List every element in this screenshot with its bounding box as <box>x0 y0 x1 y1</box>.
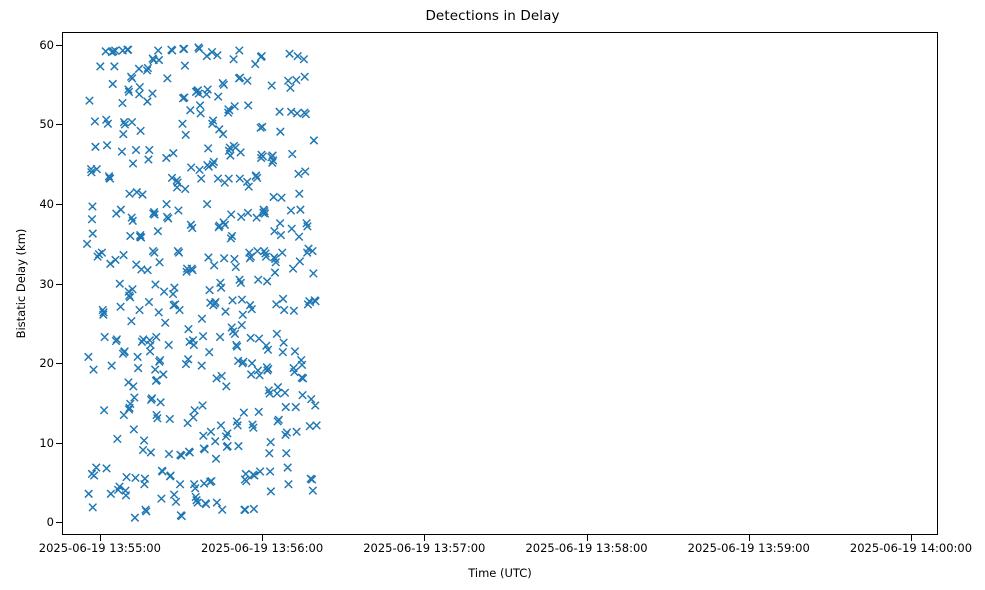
x-tick-mark <box>100 535 101 541</box>
x-tick-label: 2025-06-19 14:00:00 <box>850 541 972 555</box>
y-tick-label: 60 <box>14 38 54 52</box>
x-tick-mark <box>587 535 588 541</box>
x-tick-mark <box>749 535 750 541</box>
x-tick-label: 2025-06-19 13:57:00 <box>363 541 485 555</box>
matplotlib-figure: Detections in Delay Bistatic Delay (km) … <box>0 0 985 590</box>
y-tick-label: 40 <box>14 197 54 211</box>
y-tick-label: 0 <box>14 515 54 529</box>
scatter-series <box>63 33 938 535</box>
y-tick-mark <box>56 124 62 125</box>
y-tick-mark <box>56 45 62 46</box>
x-tick-label: 2025-06-19 13:55:00 <box>39 541 161 555</box>
y-tick-mark <box>56 204 62 205</box>
x-tick-mark <box>262 535 263 541</box>
y-tick-label: 50 <box>14 117 54 131</box>
x-tick-mark <box>424 535 425 541</box>
x-tick-label: 2025-06-19 13:56:00 <box>201 541 323 555</box>
y-tick-mark <box>56 363 62 364</box>
y-tick-mark <box>56 284 62 285</box>
y-tick-label: 30 <box>14 277 54 291</box>
x-tick-mark <box>911 535 912 541</box>
x-tick-label: 2025-06-19 13:59:00 <box>688 541 810 555</box>
y-tick-label: 10 <box>14 436 54 450</box>
x-tick-label: 2025-06-19 13:58:00 <box>525 541 647 555</box>
y-tick-label: 20 <box>14 356 54 370</box>
y-tick-mark <box>56 522 62 523</box>
x-axis-label: Time (UTC) <box>62 566 938 580</box>
y-tick-mark <box>56 443 62 444</box>
plot-area <box>62 32 938 535</box>
chart-title: Detections in Delay <box>0 8 985 24</box>
y-tick-label-group: 0102030405060 <box>10 0 54 590</box>
